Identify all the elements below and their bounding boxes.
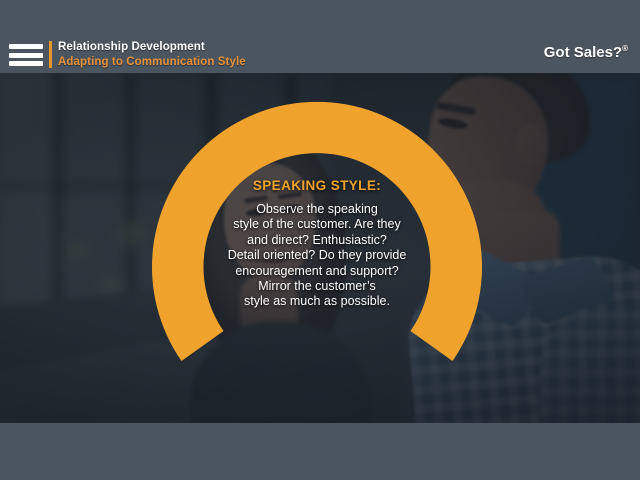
slide-stage: SPEAKING STYLE: Observe the speaking sty… [0, 73, 640, 423]
hamburger-bar-3 [9, 61, 43, 66]
brand-name: Got Sales? [544, 44, 622, 61]
hamburger-menu-icon[interactable] [9, 44, 43, 66]
hamburger-bar-1 [9, 44, 43, 49]
slide-screen: Relationship Development Adapting to Com… [0, 0, 640, 480]
callout-heading: SPEAKING STYLE: [186, 178, 448, 193]
callout-text-block: SPEAKING STYLE: Observe the speaking sty… [186, 178, 448, 310]
callout-body-text: Observe the speaking style of the custom… [186, 202, 448, 310]
brand-logo: Got Sales?® [544, 44, 628, 61]
registered-mark-icon: ® [622, 44, 628, 53]
footer-bar [0, 423, 640, 480]
course-title: Relationship Development [58, 40, 246, 55]
lesson-subtitle: Adapting to Communication Style [58, 55, 246, 70]
header-divider [49, 41, 52, 68]
app-header: Relationship Development Adapting to Com… [0, 0, 640, 73]
header-title-block: Relationship Development Adapting to Com… [58, 40, 246, 70]
hamburger-bar-2 [9, 53, 43, 58]
